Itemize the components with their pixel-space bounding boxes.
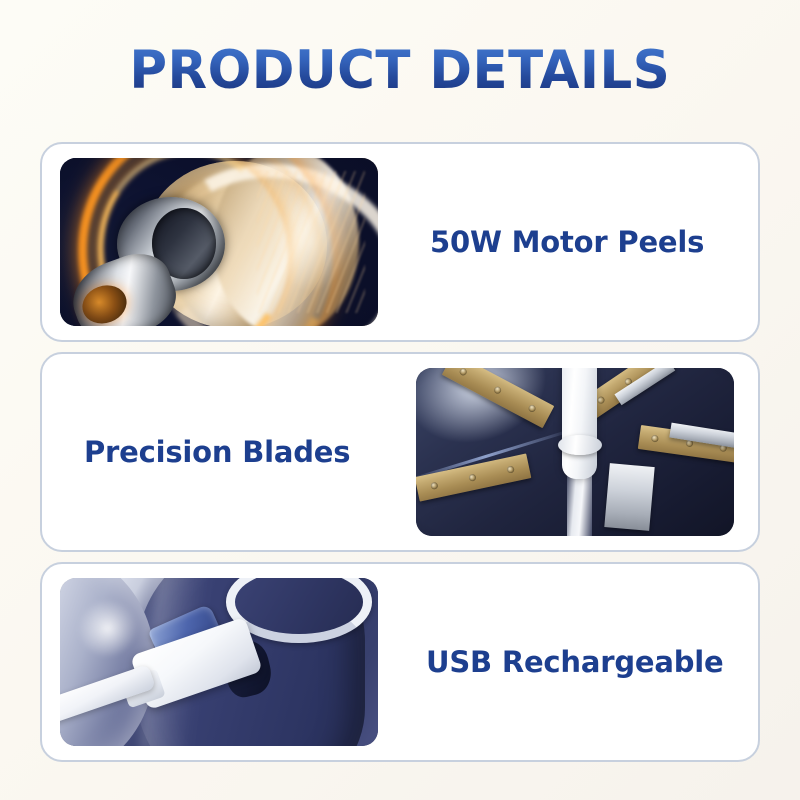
motor-image-art bbox=[60, 158, 378, 326]
feature-card-motor[interactable]: 50W Motor Peels bbox=[40, 142, 760, 342]
motor-vignette bbox=[60, 158, 378, 326]
feature-label-motor: 50W Motor Peels bbox=[378, 225, 758, 259]
blades-image-art bbox=[416, 368, 734, 536]
feature-card-usb[interactable]: USB Rechargeable bbox=[40, 562, 760, 762]
page-title: PRODUCT DETAILS bbox=[130, 44, 671, 97]
usb-photo bbox=[60, 578, 378, 746]
product-details-page: PRODUCT DETAILS 50W Motor Peels Precisio… bbox=[0, 0, 800, 800]
blades-vignette bbox=[416, 368, 734, 536]
motor-photo bbox=[60, 158, 378, 326]
feature-label-usb: USB Rechargeable bbox=[378, 645, 758, 679]
page-title-container: PRODUCT DETAILS bbox=[0, 44, 800, 97]
feature-label-blades: Precision Blades bbox=[42, 435, 416, 469]
usb-image-art bbox=[60, 578, 378, 746]
usb-vignette bbox=[60, 578, 378, 746]
feature-card-blades[interactable]: Precision Blades bbox=[40, 352, 760, 552]
blades-photo bbox=[416, 368, 734, 536]
